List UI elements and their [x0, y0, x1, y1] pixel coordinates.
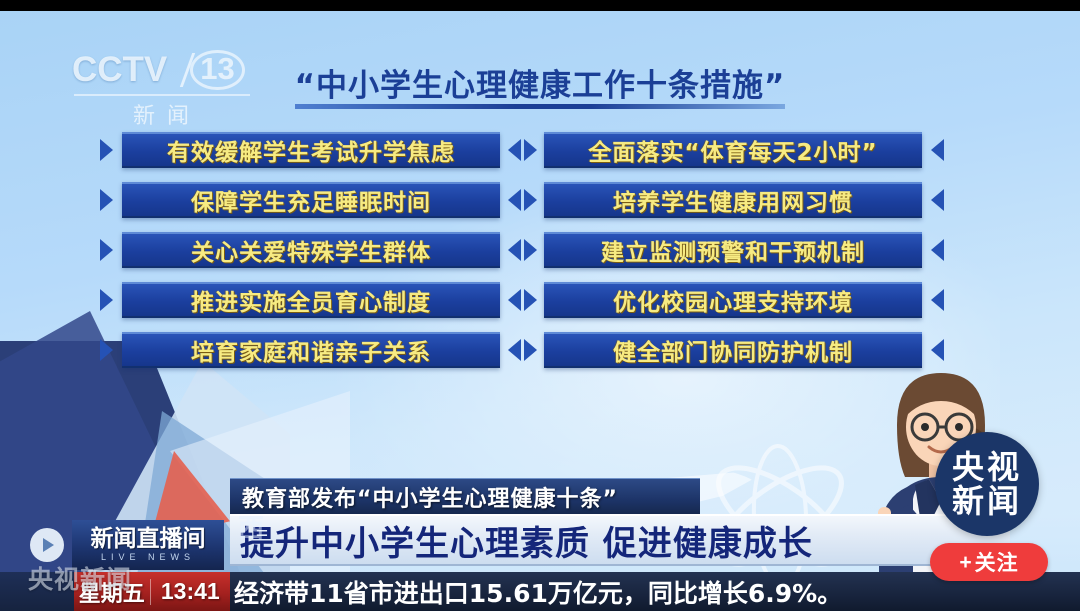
- chevron-right-icon: [100, 189, 113, 211]
- chevron-left-icon: [931, 189, 944, 211]
- chevron-left-icon: [931, 289, 944, 311]
- chevron-left-icon: [508, 139, 521, 161]
- row-divider: [500, 339, 544, 361]
- chevron-right-icon: [524, 339, 537, 361]
- measure-item-right[interactable]: 培养学生健康用网习惯: [544, 182, 944, 218]
- measure-bar-right[interactable]: 建立监测预警和干预机制: [544, 232, 922, 268]
- measure-item-left[interactable]: 推进实施全员育心制度: [100, 282, 500, 318]
- follow-button[interactable]: + 关注: [930, 543, 1048, 581]
- measure-label: 建立监测预警和干预机制: [601, 233, 865, 267]
- lower-third-headline: 提升中小学生心理素质 促进健康成长: [230, 514, 1010, 566]
- measure-row: 推进实施全员育心制度 优化校园心理支持环境: [100, 282, 980, 318]
- cctv-news-logo: 央视 新闻: [935, 432, 1039, 536]
- board-title: “中小学生心理健康工作十条措施”: [0, 60, 1080, 105]
- measure-label: 有效缓解学生考试升学焦虑: [167, 133, 455, 167]
- chevron-right-icon: [524, 139, 537, 161]
- measure-item-left[interactable]: 保障学生充足睡眠时间: [100, 182, 500, 218]
- row-divider: [500, 189, 544, 211]
- measure-label: 培育家庭和谐亲子关系: [191, 333, 431, 367]
- cctv-news-logo-line2: 新闻: [952, 484, 1022, 518]
- measure-bar-right[interactable]: 全面落实“体育每天2小时”: [544, 132, 922, 168]
- measure-label: 保障学生充足睡眠时间: [191, 183, 431, 217]
- measure-bar-right[interactable]: 培养学生健康用网习惯: [544, 182, 922, 218]
- measure-row: 保障学生充足睡眠时间 培养学生健康用网习惯: [100, 182, 980, 218]
- measure-bar-left[interactable]: 保障学生充足睡眠时间: [122, 182, 500, 218]
- chevron-right-icon: [100, 139, 113, 161]
- lower-third-headline-text: 提升中小学生心理素质 促进健康成长: [240, 516, 813, 565]
- measure-item-right[interactable]: 建立监测预警和干预机制: [544, 232, 944, 268]
- measure-label: 关心关爱特殊学生群体: [191, 233, 431, 267]
- chevron-left-icon: [508, 189, 521, 211]
- lower-third: 教育部发布“中小学生心理健康十条” 提升中小学生心理素质 促进健康成长: [230, 478, 1010, 566]
- measure-bar-left[interactable]: 培育家庭和谐亲子关系: [122, 332, 500, 368]
- measure-row: 有效缓解学生考试升学焦虑 全面落实“体育每天2小时”: [100, 132, 980, 168]
- chevron-left-icon: [508, 239, 521, 261]
- measure-bar-left[interactable]: 推进实施全员育心制度: [122, 282, 500, 318]
- program-name: 新闻直播间: [91, 527, 206, 551]
- chevron-right-icon: [100, 239, 113, 261]
- news-ticker-text: 经济带11省市进出口15.61万亿元，同比增长6.9%。: [234, 574, 842, 610]
- measure-label: 全面落实“体育每天2小时”: [588, 133, 877, 167]
- measure-label: 培养学生健康用网习惯: [613, 183, 853, 217]
- row-divider: [500, 289, 544, 311]
- lower-third-subtitle-text: 教育部发布“中小学生心理健康十条”: [242, 481, 618, 513]
- measure-item-left[interactable]: 关心关爱特殊学生群体: [100, 232, 500, 268]
- chevron-right-icon: [100, 339, 113, 361]
- follow-button-label: 关注: [975, 547, 1019, 577]
- chevron-left-icon: [931, 239, 944, 261]
- chevron-right-icon: [100, 289, 113, 311]
- play-circle-icon: [30, 528, 64, 562]
- measure-bar-left[interactable]: 有效缓解学生考试升学焦虑: [122, 132, 500, 168]
- plus-icon: +: [959, 552, 971, 573]
- lower-third-subtitle: 教育部发布“中小学生心理健康十条”: [230, 478, 700, 514]
- chevron-left-icon: [931, 139, 944, 161]
- row-divider: [500, 239, 544, 261]
- chevron-right-icon: [524, 189, 537, 211]
- measure-bar-right[interactable]: 优化校园心理支持环境: [544, 282, 922, 318]
- cctv-news-logo-line1: 央视: [952, 450, 1022, 484]
- watermark-mid-left: 西: [238, 508, 266, 545]
- measure-bar-left[interactable]: 关心关爱特殊学生群体: [122, 232, 500, 268]
- measure-row: 关心关爱特殊学生群体 建立监测预警和干预机制: [100, 232, 980, 268]
- clock-time: 13:41: [151, 578, 230, 605]
- chevron-right-icon: [524, 239, 537, 261]
- measure-item-left[interactable]: 有效缓解学生考试升学焦虑: [100, 132, 500, 168]
- watermark-bottom-left: 央视新闻: [28, 560, 132, 596]
- board-title-text: “中小学生心理健康工作十条措施”: [295, 68, 786, 104]
- measure-item-right[interactable]: 优化校园心理支持环境: [544, 282, 944, 318]
- measures-grid: 有效缓解学生考试升学焦虑 全面落实“体育每天2小时” 保障学生充足睡眠时间: [100, 132, 980, 382]
- broadcast-screen: CCTV 13 新闻 “中小学生心理健康工作十条措施” 有效缓解学生考试升学焦虑: [0, 0, 1080, 611]
- measure-label: 健全部门协同防护机制: [613, 333, 853, 367]
- chevron-left-icon: [508, 289, 521, 311]
- board-title-underline: [295, 104, 785, 109]
- measure-label: 推进实施全员育心制度: [191, 283, 431, 317]
- measure-item-right[interactable]: 全面落实“体育每天2小时”: [544, 132, 944, 168]
- chevron-left-icon: [508, 339, 521, 361]
- top-letterbox: [0, 0, 1080, 11]
- chevron-right-icon: [524, 289, 537, 311]
- row-divider: [500, 139, 544, 161]
- measure-item-left[interactable]: 培育家庭和谐亲子关系: [100, 332, 500, 368]
- measure-label: 优化校园心理支持环境: [613, 283, 853, 317]
